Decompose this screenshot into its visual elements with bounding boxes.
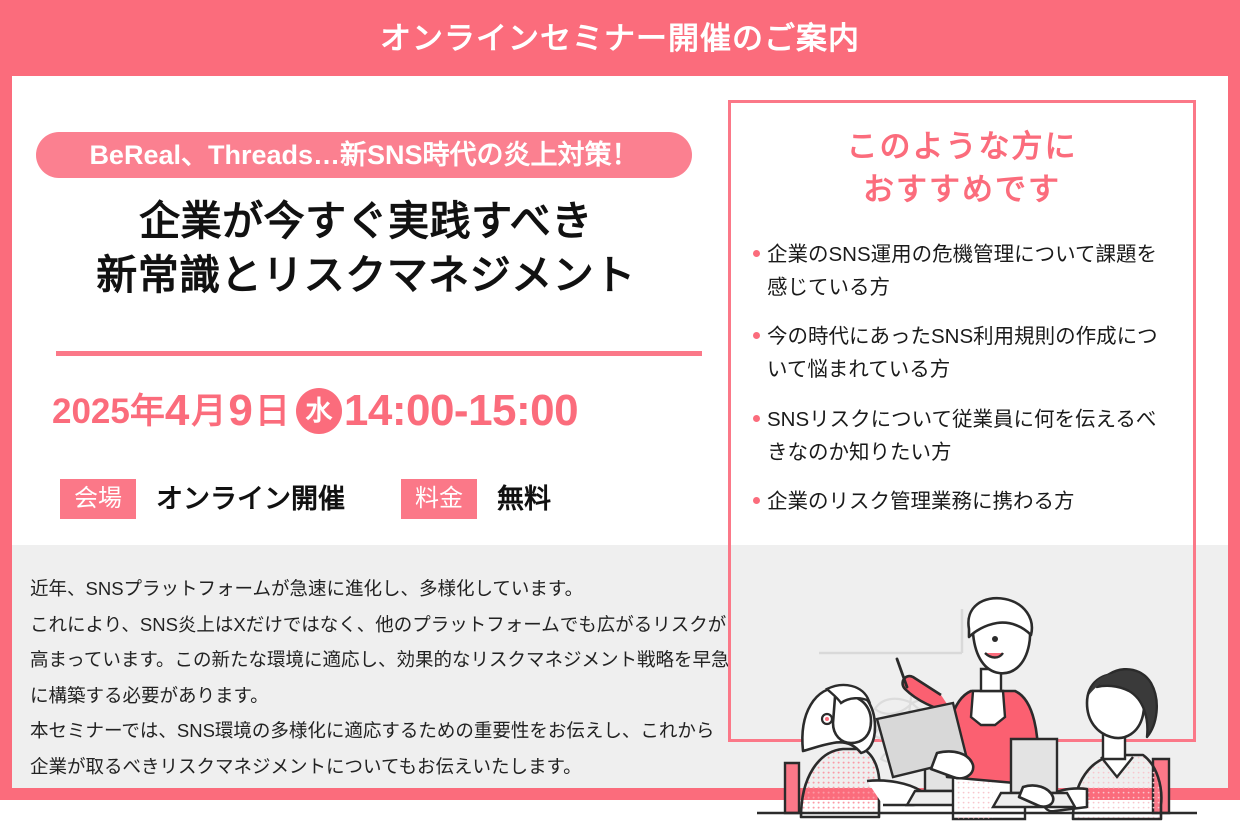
list-item: 今の時代にあったSNS利用規則の作成について悩まれている方 <box>753 320 1175 386</box>
description-paragraph-2: これにより、SNS炎上はXだけではなく、他のプラットフォームでも広がるリスクが高… <box>30 607 730 714</box>
event-datetime: 2025年 4 月 9 日 水 14:00-15:00 <box>52 388 578 434</box>
poster-header-band: オンラインセミナー開催のご案内 <box>0 0 1240 76</box>
description-paragraph-3: 本セミナーでは、SNS環境の多様化に適応するための重要性をお伝えし、これから企業… <box>30 713 730 784</box>
panel-heading-line-2: おすすめです <box>731 168 1193 211</box>
meeting-illustration-svg <box>757 591 1197 821</box>
event-meta-row: 会場 オンライン開催 料金 無料 <box>60 479 551 519</box>
fee-value: 無料 <box>497 486 551 513</box>
tagline-badge: BeReal、Threads…新SNS時代の炎上対策！ <box>36 132 692 178</box>
fee-label: 料金 <box>401 479 477 519</box>
section-divider <box>56 351 702 356</box>
description-paragraph-1: 近年、SNSプラットフォームが急速に進化し、多様化しています。 <box>30 571 730 607</box>
poster-canvas: BeReal、Threads…新SNS時代の炎上対策！ 企業が今すぐ実践すべき … <box>12 76 1228 788</box>
headline-line-2: 新常識とリスクマネジメント <box>12 248 720 302</box>
audience-list: 企業のSNS運用の危機管理について課題を感じている方 今の時代にあったSNS利用… <box>731 238 1193 518</box>
event-weekday-badge: 水 <box>296 388 342 434</box>
event-time-range: 14:00-15:00 <box>344 389 578 433</box>
event-day-number: 9 <box>228 389 252 433</box>
event-day-unit: 日 <box>255 394 290 429</box>
seminar-description: 近年、SNSプラットフォームが急速に進化し、多様化しています。 これにより、SN… <box>30 571 730 784</box>
event-month-unit: 月 <box>191 394 226 429</box>
event-year: 2025年 <box>52 394 165 429</box>
whiteboard-lines <box>819 609 962 653</box>
panel-heading: このような方に おすすめです <box>731 125 1193 212</box>
meeting-illustration <box>757 591 1197 821</box>
page-title: オンラインセミナー開催のご案内 <box>380 23 860 54</box>
left-content-column: BeReal、Threads…新SNS時代の炎上対策！ 企業が今すぐ実践すべき … <box>12 76 728 788</box>
seminar-poster: オンラインセミナー開催のご案内 BeReal、Threads…新SNS時代の炎上… <box>0 0 1240 800</box>
list-item: 企業のSNS運用の危機管理について課題を感じている方 <box>753 238 1175 304</box>
person-right <box>993 669 1169 819</box>
panel-heading-line-1: このような方に <box>731 125 1193 168</box>
list-item: 企業のリスク管理業務に携わる方 <box>753 485 1175 518</box>
seminar-headline: 企業が今すぐ実践すべき 新常識とリスクマネジメント <box>12 194 720 302</box>
headline-line-1: 企業が今すぐ実践すべき <box>12 194 720 248</box>
tagline-text: BeReal、Threads…新SNS時代の炎上対策！ <box>89 142 638 169</box>
list-item: SNSリスクについて従業員に何を伝えるべきなのか知りたい方 <box>753 403 1175 469</box>
venue-label: 会場 <box>60 479 136 519</box>
venue-value: オンライン開催 <box>156 486 345 513</box>
event-month-number: 4 <box>165 389 189 433</box>
